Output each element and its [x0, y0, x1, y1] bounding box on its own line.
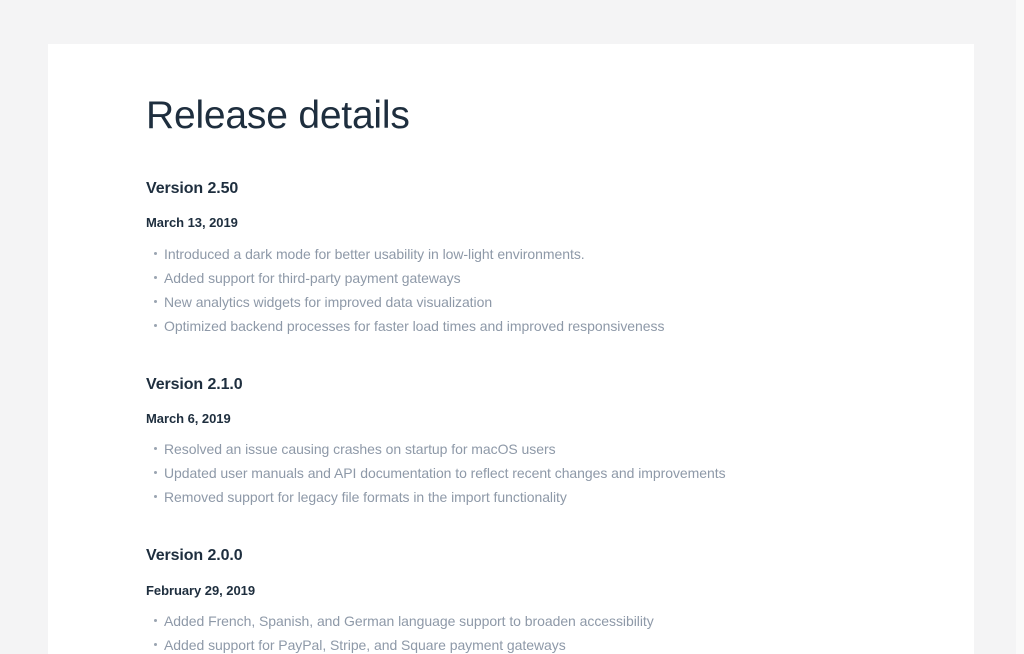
- release-change-text: Resolved an issue causing crashes on sta…: [164, 441, 556, 457]
- release-change-text: New analytics widgets for improved data …: [164, 294, 492, 310]
- release-change-text: Added support for PayPal, Stripe, and Sq…: [164, 637, 566, 653]
- release-change-list: Introduced a dark mode for better usabil…: [146, 231, 974, 338]
- release-change-item: Optimized backend processes for faster l…: [146, 314, 974, 338]
- release-change-item: Added support for PayPal, Stripe, and Sq…: [146, 633, 974, 654]
- release-change-list: Added French, Spanish, and German langua…: [146, 598, 974, 654]
- bullet-dot-icon: [154, 643, 157, 646]
- release-change-text: Added support for third-party payment ga…: [164, 270, 461, 286]
- release-change-item: New analytics widgets for improved data …: [146, 290, 974, 314]
- page-scrollbar[interactable]: [1016, 0, 1024, 654]
- bullet-dot-icon: [154, 300, 157, 303]
- release-change-text: Introduced a dark mode for better usabil…: [164, 246, 585, 262]
- bullet-dot-icon: [154, 324, 157, 327]
- release-block: Version 2.0.0February 29, 2019Added Fren…: [146, 546, 974, 654]
- release-version-heading: Version 2.50: [146, 179, 974, 198]
- page-title: Release details: [146, 95, 974, 138]
- bullet-dot-icon: [154, 447, 157, 450]
- release-date: March 13, 2019: [146, 198, 974, 231]
- release-block: Version 2.50March 13, 2019Introduced a d…: [146, 179, 974, 338]
- release-block: Version 2.1.0March 6, 2019Resolved an is…: [146, 375, 974, 510]
- bullet-dot-icon: [154, 471, 157, 474]
- release-change-item: Resolved an issue causing crashes on sta…: [146, 437, 974, 461]
- bullet-dot-icon: [154, 495, 157, 498]
- release-notes-card: Release details Version 2.50March 13, 20…: [48, 44, 974, 654]
- release-change-item: Added support for third-party payment ga…: [146, 266, 974, 290]
- release-change-item: Updated user manuals and API documentati…: [146, 461, 974, 485]
- release-change-list: Resolved an issue causing crashes on sta…: [146, 426, 974, 509]
- bullet-dot-icon: [154, 619, 157, 622]
- card-content: Release details Version 2.50March 13, 20…: [48, 44, 974, 654]
- release-change-text: Added French, Spanish, and German langua…: [164, 613, 654, 629]
- release-change-item: Added French, Spanish, and German langua…: [146, 609, 974, 633]
- release-list: Version 2.50March 13, 2019Introduced a d…: [146, 179, 974, 654]
- release-change-item: Removed support for legacy file formats …: [146, 485, 974, 509]
- release-change-text: Updated user manuals and API documentati…: [164, 465, 726, 481]
- release-change-item: Introduced a dark mode for better usabil…: [146, 242, 974, 266]
- release-version-heading: Version 2.1.0: [146, 375, 974, 394]
- release-change-text: Optimized backend processes for faster l…: [164, 318, 664, 334]
- release-date: March 6, 2019: [146, 394, 974, 427]
- bullet-dot-icon: [154, 276, 157, 279]
- bullet-dot-icon: [154, 252, 157, 255]
- release-version-heading: Version 2.0.0: [146, 546, 974, 565]
- release-change-text: Removed support for legacy file formats …: [164, 489, 567, 505]
- release-date: February 29, 2019: [146, 566, 974, 599]
